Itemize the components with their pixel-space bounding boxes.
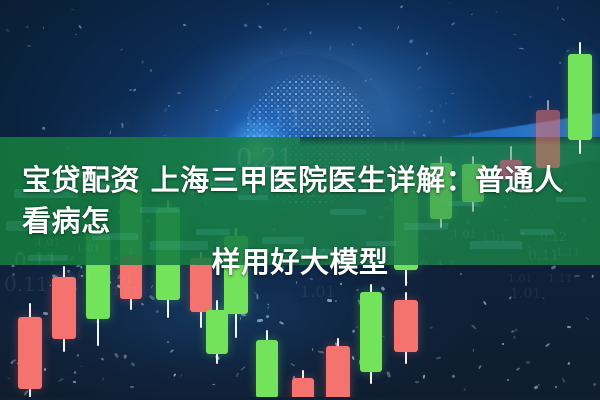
overlay-number: 0.11	[246, 104, 304, 134]
overlay-number: 1.01	[300, 282, 336, 301]
title-line-1: 宝贷配资 上海三甲医院医生详解：普通人看病怎	[8, 160, 592, 242]
candlestick-body	[568, 54, 592, 140]
candlestick-body	[18, 317, 42, 389]
candlestick	[360, 284, 382, 384]
candlestick	[256, 330, 278, 400]
candlestick	[18, 303, 42, 400]
candlestick-body	[394, 300, 418, 352]
overlay-number: 1.01	[510, 286, 541, 302]
candlestick-body	[256, 340, 278, 398]
overlay-number: 1.11	[382, 140, 407, 153]
candlestick	[326, 338, 350, 400]
candlestick	[206, 300, 228, 364]
overlay-number: 1.01	[112, 284, 139, 298]
candlestick-body	[326, 346, 350, 400]
cover-image: 0.110.111.011.011.011.011.011.111.01 0.2…	[0, 0, 600, 400]
page-title: 宝贷配资 上海三甲医院医生详解：普通人看病怎 样用好大模型	[0, 160, 600, 283]
candlestick-body	[206, 310, 228, 354]
candlestick	[292, 370, 314, 400]
candlestick	[568, 42, 592, 154]
candlestick-body	[360, 292, 382, 372]
title-line-2: 样用好大模型	[8, 242, 592, 283]
candlestick-body	[52, 277, 76, 339]
candlestick	[394, 292, 418, 364]
